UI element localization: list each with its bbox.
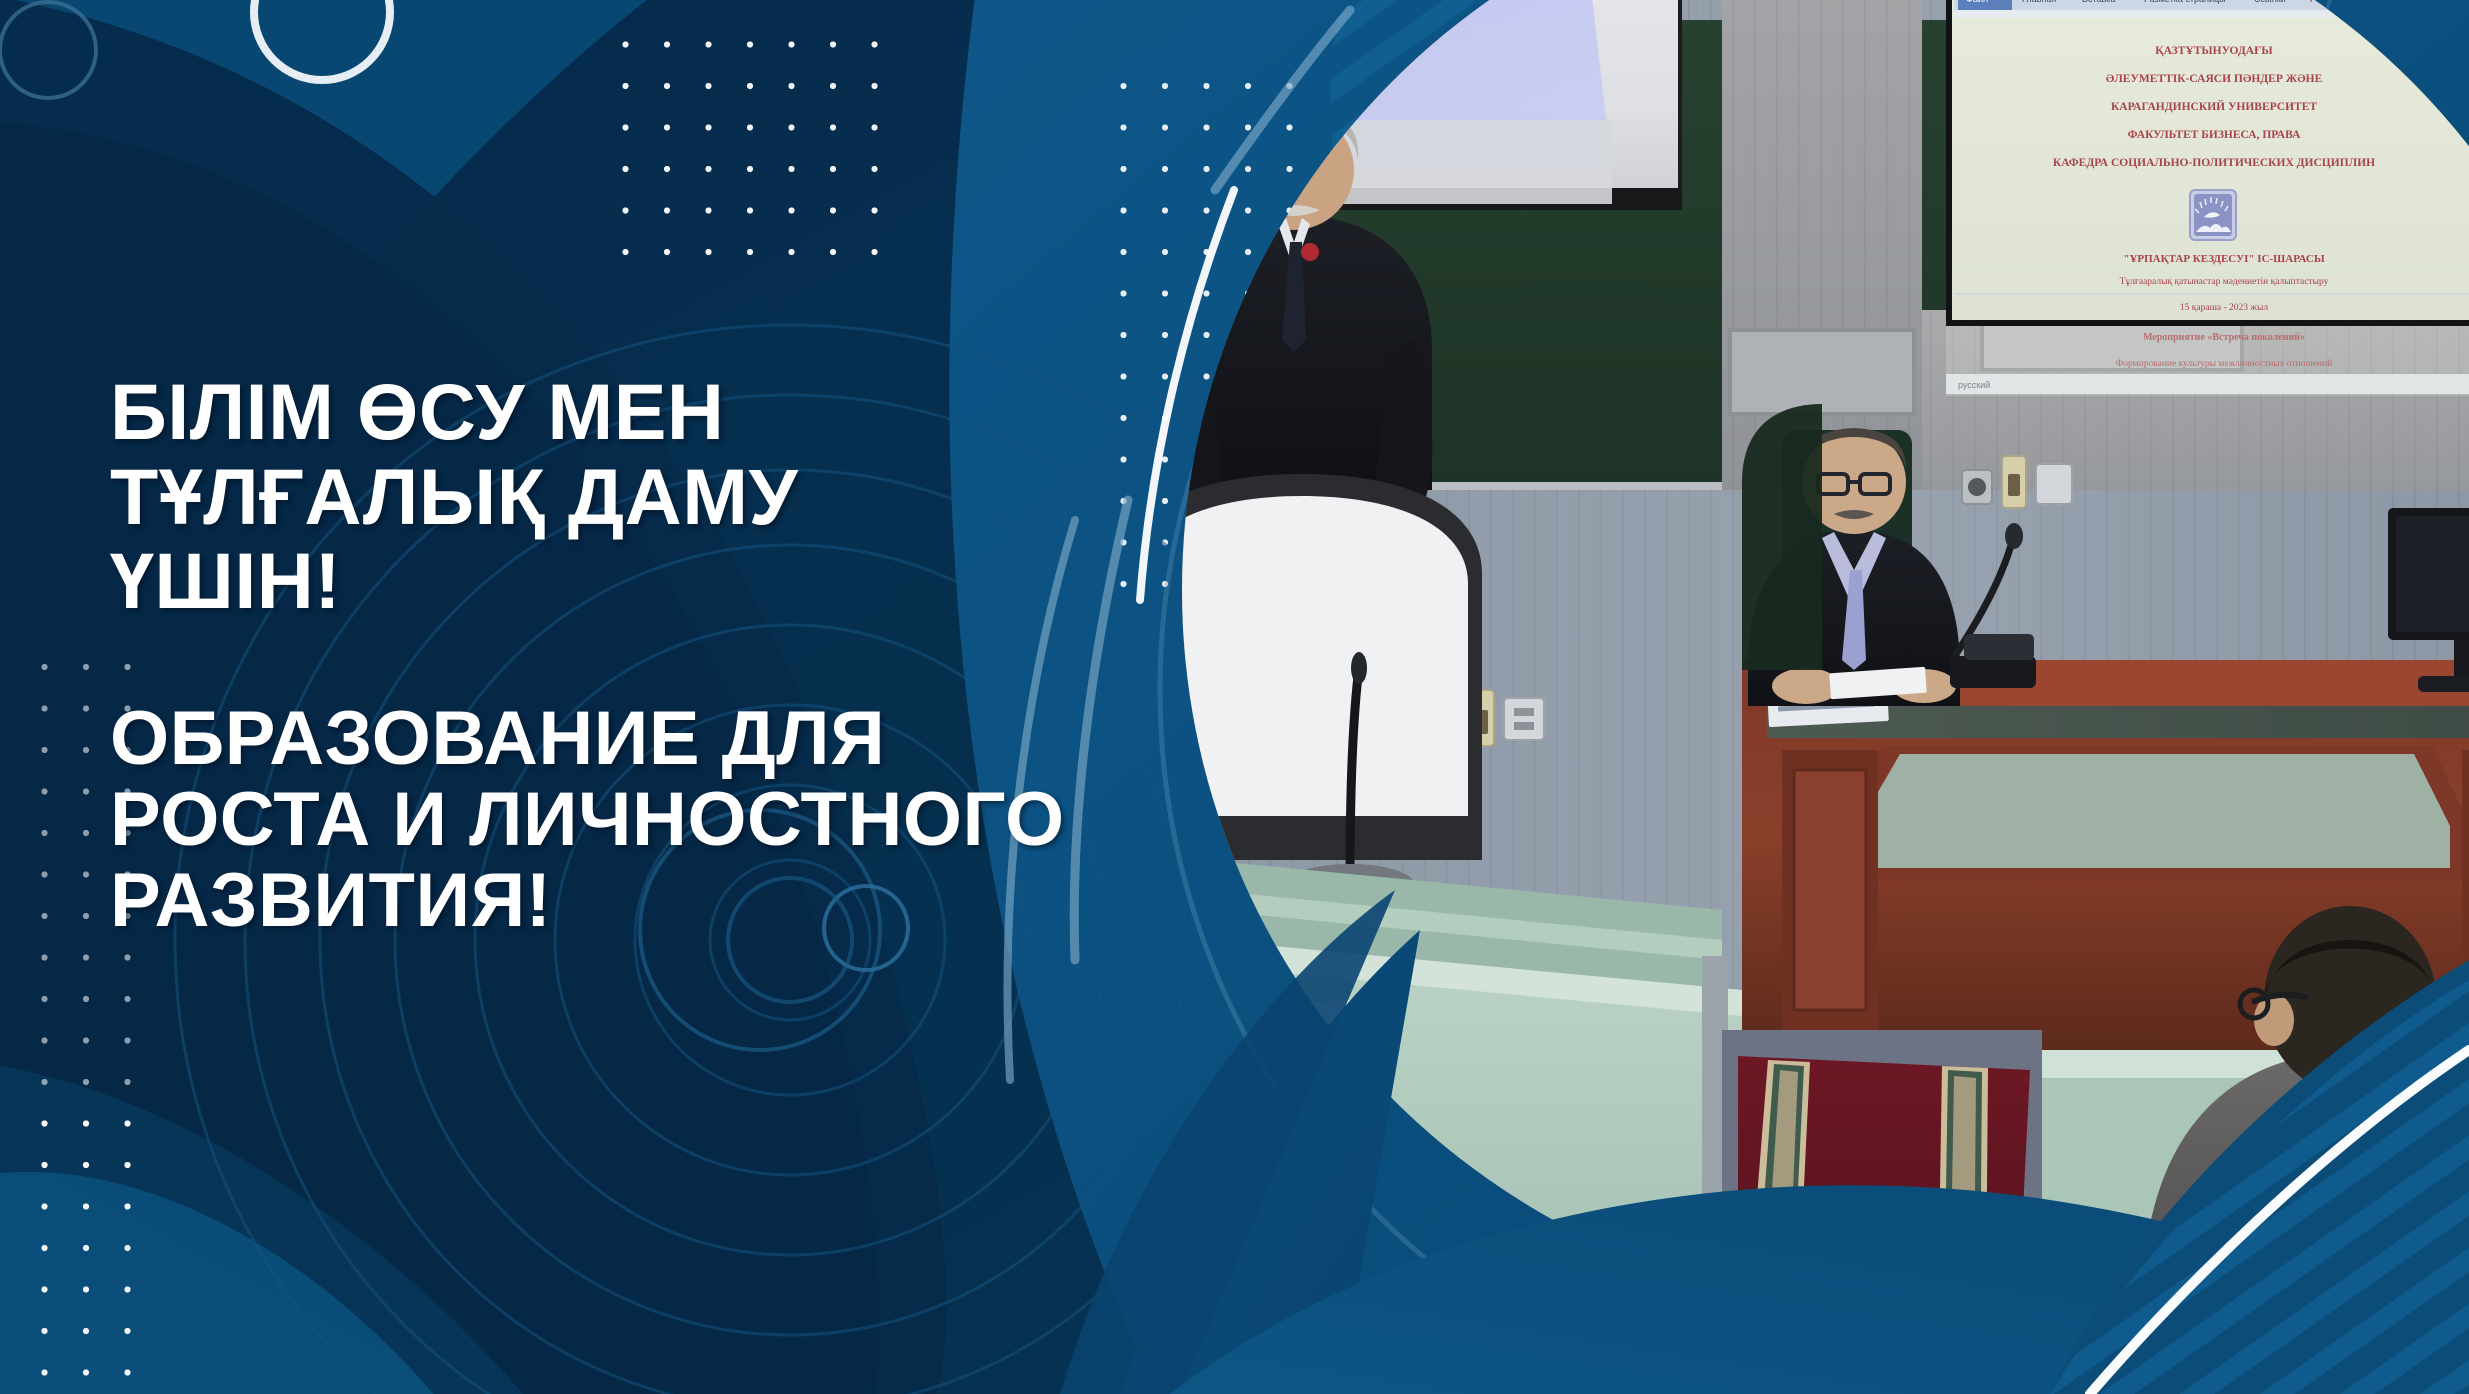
- event-photo-circle: Файл Главная Вставка Разметка страницы С…: [1182, 0, 2469, 1310]
- lecture-hall-photo: Файл Главная Вставка Разметка страницы С…: [1182, 0, 2469, 1310]
- svg-text:Главная: Главная: [2022, 0, 2056, 4]
- svg-text:КАРАГАНДИНСКИЙ УНИВЕРСИТЕТ: КАРАГАНДИНСКИЙ УНИВЕРСИТЕТ: [2111, 99, 2317, 113]
- podium: [1182, 474, 1482, 912]
- svg-text:Файл: Файл: [1966, 0, 1988, 4]
- svg-text:Тұлғааралық қатынастар мәдение: Тұлғааралық қатынастар мәдениетін қалыпт…: [2120, 277, 2329, 287]
- dot-grid-left-lower: [20, 1110, 150, 1380]
- svg-text:"ҰРПАҚТАР КЕЗДЕСУІ" ІС-ШАРАСЫ: "ҰРПАҚТАР КЕЗДЕСУІ" ІС-ШАРАСЫ: [2123, 253, 2325, 265]
- svg-text:Ссылки: Ссылки: [2254, 0, 2286, 4]
- svg-text:Вставка: Вставка: [2082, 0, 2115, 4]
- svg-text:Рассылки: Рассылки: [2310, 0, 2350, 4]
- svg-text:ФАКУЛЬТЕТ БИЗНЕСА, ПРАВА: ФАКУЛЬТЕТ БИЗНЕСА, ПРАВА: [2128, 129, 2301, 141]
- floor-and-carpet: [1722, 1030, 2042, 1310]
- svg-text:ӘЛЕУМЕТТІК-САЯСИ ПӘНДЕР ЖӘНЕ: ӘЛЕУМЕТТІК-САЯСИ ПӘНДЕР ЖӘНЕ: [2106, 73, 2323, 85]
- svg-text:Разметка страницы: Разметка страницы: [2144, 0, 2226, 4]
- lecture-benches: [1182, 850, 1742, 1310]
- dot-grid-top-right: [616, 22, 908, 282]
- banner-canvas: Файл Главная Вставка Разметка страницы С…: [0, 0, 2469, 1394]
- svg-text:ҚАЗТҰТЫНУОДАҒЫ: ҚАЗТҰТЫНУОДАҒЫ: [2155, 45, 2273, 57]
- svg-text:КАФЕДРА СОЦИАЛЬНО-ПОЛИТИЧЕСКИХ: КАФЕДРА СОЦИАЛЬНО-ПОЛИТИЧЕСКИХ ДИСЦИПЛИН: [2053, 157, 2375, 169]
- svg-text:15 қараша - 2023 жыл: 15 қараша - 2023 жыл: [2180, 303, 2268, 313]
